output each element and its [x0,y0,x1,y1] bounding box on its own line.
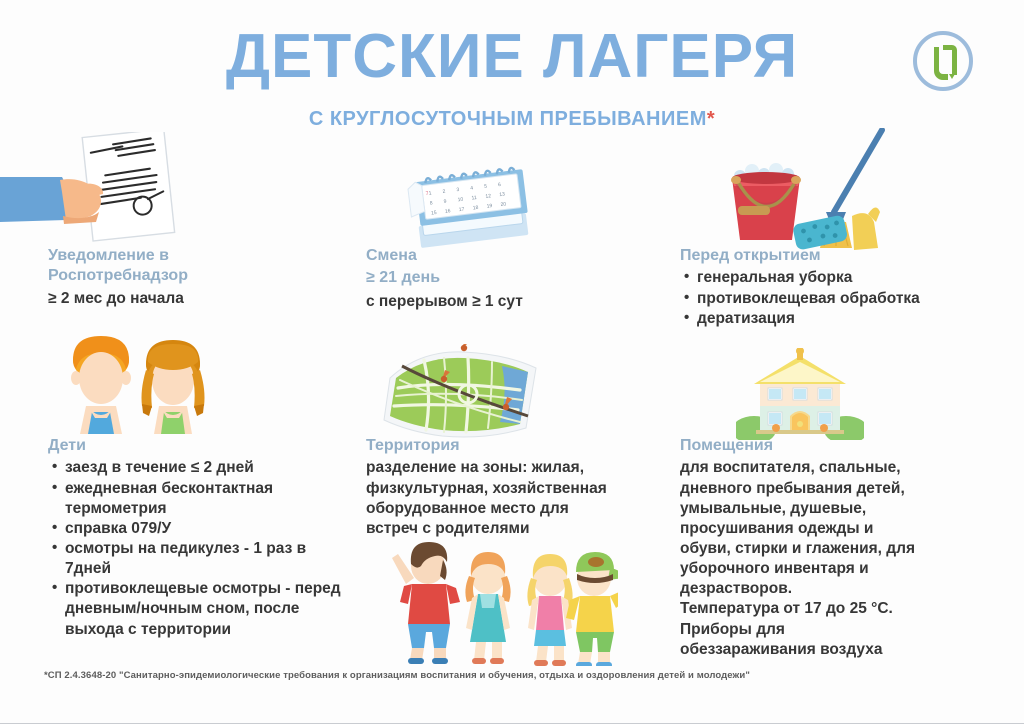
hand-holding-document-illustration [0,132,200,250]
premises-body-line: дезрастворов. [680,579,980,599]
shift-accent: ≥ 21 день [366,268,666,288]
territory-body-line: оборудованное место для [366,499,666,519]
section-shift: Смена ≥ 21 день с перерывом ≥ 1 сут [366,246,666,312]
svg-text:16: 16 [445,208,451,215]
svg-text:15: 15 [431,210,437,217]
section-premises: Помещения для воспитателя, спальные, дне… [680,436,980,660]
premises-body-line: уборочного инвентаря и [680,559,980,579]
territory-body-line: встреч с родителями [366,519,666,539]
list-item: осмотры на педикулез - 1 раз в 7дней [65,539,348,579]
svg-text:13: 13 [499,191,505,198]
organization-logo [912,30,974,92]
subtitle-asterisk: * [707,108,715,130]
premises-body-line: Температура от 17 до 25 °C. [680,599,980,619]
list-item: генеральная уборка [697,268,980,288]
girl-figure [142,340,205,434]
svg-text:19: 19 [486,203,492,210]
premises-body-line: обуви, стирки и глажения, для [680,539,980,559]
children-list: заезд в течение ≤ 2 дней ежедневная беск… [48,458,348,639]
shift-body: с перерывом ≥ 1 сут [366,292,666,312]
before-opening-heading: Перед открытием [680,246,980,266]
shift-heading: Смена [366,246,666,266]
section-children: Дети заезд в течение ≤ 2 дней ежедневная… [48,436,348,640]
map-pin [461,344,471,351]
svg-text:20: 20 [500,201,506,208]
svg-text:18: 18 [472,205,478,212]
premises-body-line: просушивания одежды и [680,519,980,539]
svg-text:11: 11 [471,195,477,202]
territory-heading: Территория [366,436,666,456]
school-building-illustration [736,348,864,440]
premises-body-line: обеззараживания воздуха [680,640,980,660]
desk-calendar-illustration: 123 456 8910 111213 151617 181920 7 [394,152,542,252]
list-item: противоклещевая обработка [697,289,980,309]
list-item: ежедневная бесконтактная термометрия [65,479,348,519]
premises-body-line: Приборы для [680,620,980,640]
list-item: дератизация [697,309,980,329]
premises-body-line: дневного пребывания детей, [680,479,980,499]
before-opening-list: генеральная уборка противоклещевая обраб… [680,268,980,328]
svg-text:17: 17 [459,206,465,213]
children-heading: Дети [48,436,348,456]
child-boy-red [392,542,460,664]
footnote: *СП 2.4.3648-20 "Санитарно-эпидемиологич… [44,670,750,681]
notification-body: ≥ 2 мес до начала [48,289,348,309]
notification-heading: Уведомление в Роспотребнадзор [48,246,348,287]
child-girl-pink [527,554,572,666]
premises-body-line: для воспитателя, спальные, [680,458,980,478]
premises-body-line: умывальные, душевые, [680,499,980,519]
poster-canvas: ДЕТСКИЕ ЛАГЕРЯ С КРУГЛОСУТОЧНЫМ ПРЕБЫВАН… [0,0,1024,723]
list-item: заезд в течение ≤ 2 дней [65,458,348,478]
folded-map-illustration [376,344,546,440]
territory-body-line: физкультурная, хозяйственная [366,479,666,499]
four-children-illustration [388,540,618,666]
svg-text:12: 12 [485,193,491,200]
page-title: ДЕТСКИЕ ЛАГЕРЯ [0,24,1024,89]
two-children-faces-illustration [56,334,226,436]
notification-heading-line1: Уведомление в [48,247,169,264]
section-before-opening: Перед открытием генеральная уборка проти… [680,246,980,329]
list-item: противоклещевые осмотры - перед дневным/… [65,579,348,639]
list-item: справка 079/У [65,519,348,539]
premises-heading: Помещения [680,436,980,456]
page-subtitle-text: С КРУГЛОСУТОЧНЫМ ПРЕБЫВАНИЕМ [309,108,707,130]
child-boy-green-cap [566,552,618,666]
section-territory: Территория разделение на зоны: жилая, фи… [366,436,666,539]
territory-body-line: разделение на зоны: жилая, [366,458,666,478]
svg-text:10: 10 [457,197,463,204]
cleaning-supplies-illustration [706,128,896,250]
boy-figure [71,336,131,434]
section-notification: Уведомление в Роспотребнадзор ≥ 2 мес до… [48,246,348,309]
notification-heading-line2: Роспотребнадзор [48,267,188,284]
child-girl-teal [465,552,510,664]
